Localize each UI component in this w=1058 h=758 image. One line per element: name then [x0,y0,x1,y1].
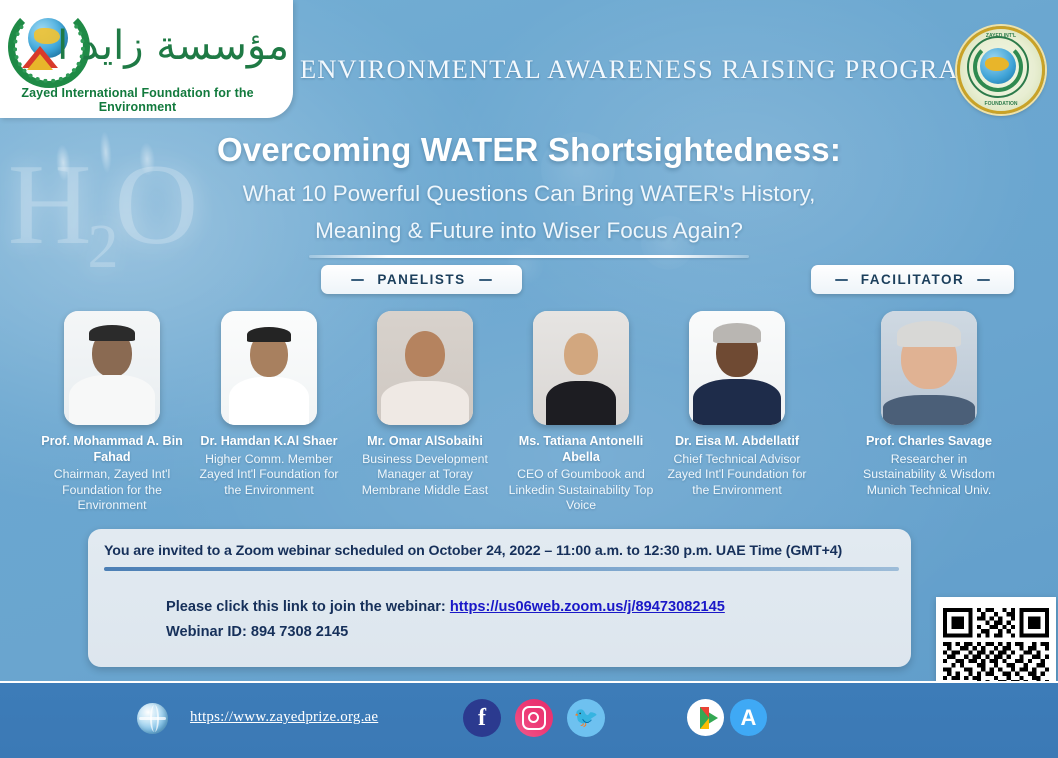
speaker-photo [689,311,785,425]
speaker-name: Prof. Mohammad A. Bin Fahad [34,434,190,465]
speaker-card: Prof. Mohammad A. Bin Fahad Chairman, Za… [34,311,190,514]
webinar-poster: H2O مؤسسة زايد الدولية للبيئة Zayed Inte… [0,0,1058,758]
page-title: Overcoming WATER Shortsightedness: [0,128,1058,172]
foundation-logo-panel: مؤسسة زايد الدولية للبيئة Zayed Internat… [0,0,293,118]
app-store-icon[interactable]: A [730,699,767,736]
facilitator-role: Researcher in Sustainability & Wisdom Mu… [851,452,1007,499]
invitation-divider [104,567,899,571]
speaker-role: Business Development Manager at Toray Me… [347,452,503,499]
logo-caption: Zayed International Foundation for the E… [0,86,275,114]
twitter-icon[interactable]: 🐦 [567,699,605,737]
title-divider [309,255,749,258]
header-band: مؤسسة زايد الدولية للبيئة Zayed Internat… [0,0,1058,118]
invitation-panel: You are invited to a Zoom webinar schedu… [88,529,911,667]
facilitator-name: Prof. Charles Savage [851,434,1007,450]
speaker-role: Chairman, Zayed Int'l Foundation for the… [34,467,190,514]
facilitator-photo [881,311,977,425]
speaker-name: Mr. Omar AlSobaihi [347,434,503,450]
speakers-row: Prof. Mohammad A. Bin Fahad Chairman, Za… [0,311,1058,511]
webinar-id: Webinar ID: 894 7308 2145 [166,620,893,645]
speaker-card: Mr. Omar AlSobaihi Business Development … [347,311,503,498]
seal-top-text: ZAYED INT'L [960,33,1042,39]
speaker-photo [221,311,317,425]
subtitle-line-2: Meaning & Future into Wiser Focus Again? [0,215,1058,246]
program-title: ENVIRONMENTAL AWARENESS RAISING PROGRAM [300,54,960,85]
speaker-card: Dr. Hamdan K.Al Shaer Higher Comm. Membe… [191,311,347,498]
join-link-prefix: Please click this link to join the webin… [166,599,450,615]
invitation-headline: You are invited to a Zoom webinar schedu… [104,543,893,559]
footer-bar: https://www.zayedprize.org.ae f 🐦 [0,681,1058,758]
dash-left-icon [835,279,848,281]
dash-left-icon [351,279,364,281]
speaker-card: Dr. Eisa M. Abdellatif Chief Technical A… [659,311,815,498]
website-link[interactable]: https://www.zayedprize.org.ae [190,709,378,726]
speaker-photo [533,311,629,425]
facilitator-badge: FACILITATOR [811,265,1014,294]
zoom-join-link[interactable]: https://us06web.zoom.us/j/89473082145 [450,599,725,615]
panelists-badge: PANELISTS [321,265,522,294]
speaker-role: CEO of Goumbook and Linkedin Sustainabil… [503,467,659,514]
logo-arabic-text: مؤسسة زايد الدولية للبيئة [60,4,289,88]
instagram-icon[interactable] [515,699,553,737]
facebook-icon[interactable]: f [463,699,501,737]
speaker-photo [377,311,473,425]
globe-icon [137,703,168,734]
subtitle-line-1: What 10 Powerful Questions Can Bring WAT… [0,178,1058,209]
dash-right-icon [977,279,990,281]
speaker-role: Chief Technical Advisor Zayed Int'l Foun… [659,452,815,499]
google-play-icon[interactable] [687,699,724,736]
seal-bottom-text: FOUNDATION [960,101,1042,107]
speaker-name: Ms. Tatiana Antonelli Abella [503,434,659,465]
join-link-row: Please click this link to join the webin… [166,595,893,620]
speaker-card: Ms. Tatiana Antonelli Abella CEO of Goum… [503,311,659,514]
speaker-name: Dr. Eisa M. Abdellatif [659,434,815,450]
zayed-prize-seal-icon: ZAYED INT'L FOUNDATION [957,26,1045,114]
facilitator-card: Prof. Charles Savage Researcher in Susta… [851,311,1007,498]
speaker-photo [64,311,160,425]
panelists-badge-label: PANELISTS [377,272,465,287]
speaker-role: Higher Comm. Member Zayed Int'l Foundati… [191,452,347,499]
facilitator-badge-label: FACILITATOR [861,272,965,287]
title-block: Overcoming WATER Shortsightedness: What … [0,128,1058,258]
speaker-name: Dr. Hamdan K.Al Shaer [191,434,347,450]
dash-right-icon [479,279,492,281]
